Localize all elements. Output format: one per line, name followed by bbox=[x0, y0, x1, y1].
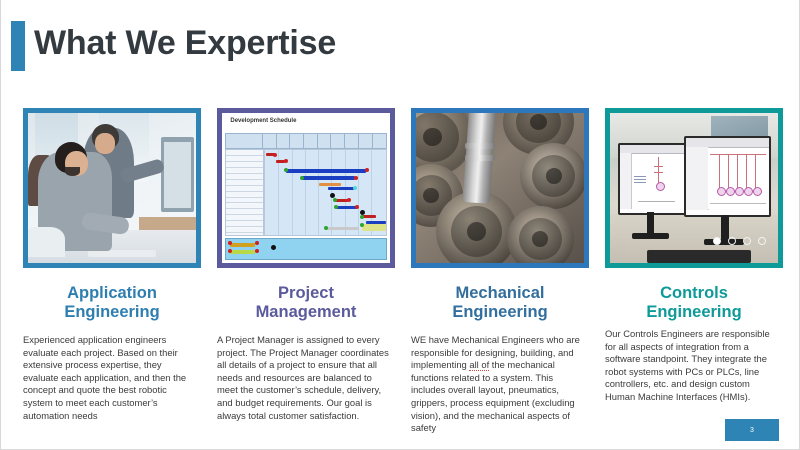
card-heading-mechanical-engineering: Mechanical Engineering bbox=[411, 284, 589, 322]
card-body-application-engineering: Experienced application engineers evalua… bbox=[23, 334, 199, 422]
gantt-chart-development-schedule-screenshot: Development Schedule bbox=[222, 113, 390, 263]
carousel-dot-3[interactable] bbox=[743, 237, 751, 245]
card-heading-line2: Management bbox=[256, 303, 357, 321]
card-application-engineering[interactable]: Application Engineering Experienced appl… bbox=[23, 108, 201, 268]
card-mechanical-engineering[interactable]: Mechanical Engineering WE have Mechanica… bbox=[411, 108, 589, 268]
title-accent-bar bbox=[11, 21, 25, 71]
office-team-at-computer-photo bbox=[28, 113, 196, 263]
card-controls-engineering[interactable]: Controls Engineering Our Controls Engine… bbox=[605, 108, 783, 268]
spellcheck-underlined-text: all of bbox=[469, 359, 489, 371]
page-title: What We Expertise bbox=[34, 14, 336, 72]
gantt-chart-title: Development Schedule bbox=[230, 118, 296, 124]
body-text-part2: the mechanical functions related to a sy… bbox=[411, 359, 575, 433]
dual-monitor-cad-workstation-photo bbox=[610, 113, 778, 263]
card-thumbnail-controls-engineering[interactable] bbox=[605, 108, 783, 268]
card-heading-controls-engineering: Controls Engineering bbox=[605, 284, 783, 322]
carousel-dots[interactable] bbox=[713, 237, 766, 245]
page-number-badge: 3 bbox=[725, 419, 779, 441]
card-heading-line2: Engineering bbox=[646, 303, 741, 321]
card-thumbnail-application-engineering[interactable] bbox=[23, 108, 201, 268]
carousel-dot-1[interactable] bbox=[713, 237, 721, 245]
card-heading-line1: Controls bbox=[660, 284, 728, 302]
slide-canvas: What We Expertise Application Engineerin… bbox=[0, 0, 800, 450]
card-heading-line2: Engineering bbox=[452, 303, 547, 321]
card-thumbnail-project-management[interactable]: Development Schedule bbox=[217, 108, 395, 268]
metal-gears-photo bbox=[416, 113, 584, 263]
card-body-project-management: A Project Manager is assigned to every p… bbox=[217, 334, 393, 422]
card-thumbnail-mechanical-engineering[interactable] bbox=[411, 108, 589, 268]
card-heading-line1: Project bbox=[278, 284, 334, 302]
page-number-text: 3 bbox=[750, 427, 754, 434]
card-heading-line1: Application bbox=[67, 284, 157, 302]
card-heading-application-engineering: Application Engineering bbox=[23, 284, 201, 322]
card-heading-line1: Mechanical bbox=[456, 284, 545, 302]
card-heading-project-management: Project Management bbox=[217, 284, 395, 322]
card-body-mechanical-engineering: WE have Mechanical Engineers who are res… bbox=[411, 334, 587, 435]
carousel-dot-2[interactable] bbox=[728, 237, 736, 245]
title-block: What We Expertise bbox=[1, 18, 641, 74]
card-project-management[interactable]: Development Schedule bbox=[217, 108, 395, 268]
card-heading-line2: Engineering bbox=[64, 303, 159, 321]
carousel-dot-4[interactable] bbox=[758, 237, 766, 245]
card-body-controls-engineering: Our Controls Engineers are responsible f… bbox=[605, 328, 781, 404]
